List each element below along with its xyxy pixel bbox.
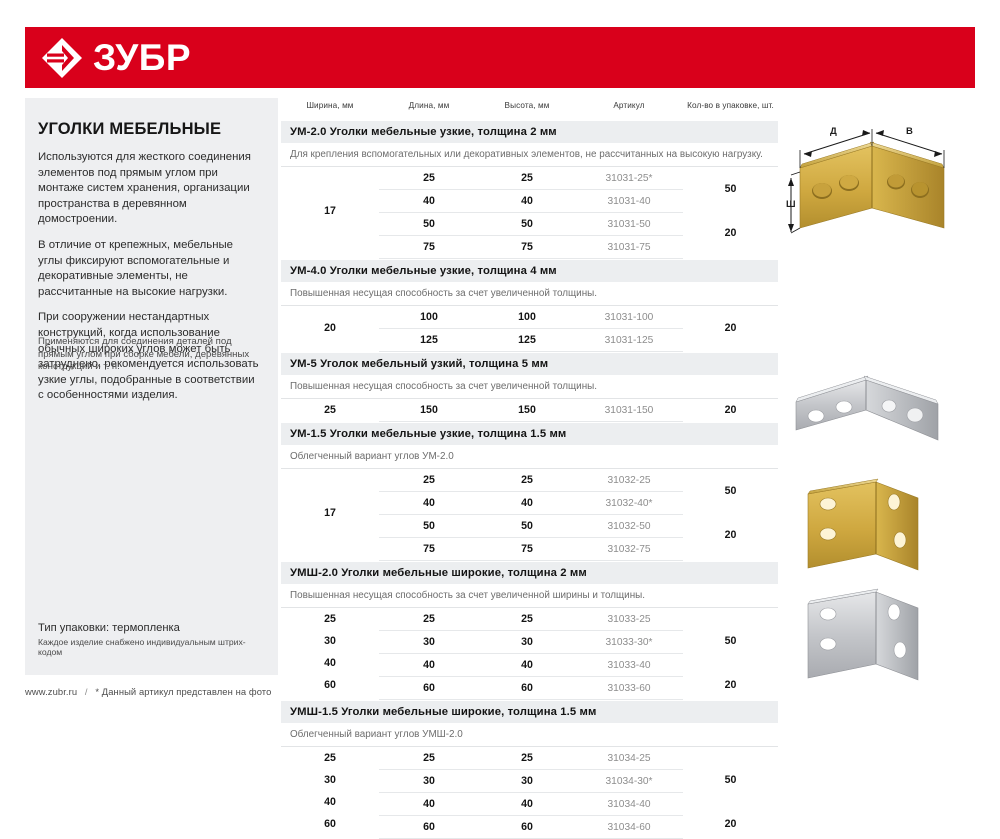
section-rows: 17252531032-25404031032-40*505031032-507…	[281, 469, 778, 561]
table-header-row: Ширина, мм Длина, мм Высота, мм Артикул …	[281, 98, 778, 120]
quantity-value: 20	[683, 813, 778, 835]
length-value: 30	[379, 636, 479, 648]
article-number: 31031-40	[575, 196, 683, 207]
table-row: 252531031-25*	[379, 167, 683, 190]
table-row: 252531034-25	[379, 747, 683, 770]
width-value: 30	[281, 769, 379, 791]
width-value: 25	[281, 608, 379, 630]
dimension-label-length: Д	[830, 126, 837, 137]
width-column: 20	[281, 306, 379, 352]
info-sidebar: УГОЛКИ МЕБЕЛЬНЫЕ Используются для жестко…	[25, 98, 278, 675]
section-description: Повышенная несущая способность за счет у…	[281, 584, 778, 608]
length-value: 75	[379, 543, 479, 555]
article-number: 31032-40*	[575, 498, 683, 509]
section-rows: 17252531031-25*404031031-40505031031-507…	[281, 167, 778, 259]
brand-header-band: ЗУБР	[25, 27, 975, 88]
column-header-length: Длина, мм	[379, 98, 479, 110]
datasheet-page: ЗУБР УГОЛКИ МЕБЕЛЬНЫЕ Используются для ж…	[0, 0, 1000, 707]
height-value: 40	[479, 798, 575, 810]
table-row: 404031034-40	[379, 793, 683, 816]
article-number: 31031-125	[575, 335, 683, 346]
data-rows: 252531031-25*404031031-40505031031-50757…	[379, 167, 683, 259]
table-row: 505031031-50	[379, 213, 683, 236]
quantity-value: 20	[683, 399, 778, 421]
width-value: 25	[281, 747, 379, 769]
article-number: 31033-30*	[575, 637, 683, 648]
sidebar-description: Используются для жесткого соединения эле…	[38, 150, 260, 414]
length-value: 125	[379, 334, 479, 346]
quantity-column: 5020	[683, 469, 778, 561]
column-header-width: Ширина, мм	[281, 98, 379, 110]
length-value: 60	[379, 821, 479, 833]
article-number: 31031-150	[575, 405, 683, 416]
column-header-article: Артикул	[575, 98, 683, 110]
quantity-value: 20	[683, 306, 778, 350]
width-column: 25	[281, 399, 379, 422]
table-row: 404031032-40*	[379, 492, 683, 515]
sidebar-paragraph: Используются для жесткого соединения эле…	[38, 150, 260, 228]
quantity-column: 20	[683, 306, 778, 352]
section-rows: 25304060252531033-25303031033-30*4040310…	[281, 608, 778, 700]
table-row: 10010031031-100	[379, 306, 683, 329]
data-rows: 15015031031-150	[379, 399, 683, 422]
table-row: 404031031-40	[379, 190, 683, 213]
height-value: 25	[479, 172, 575, 184]
zubr-diamond-logo-icon	[40, 36, 84, 80]
sidebar-paragraph: В отличие от крепежных, мебельные углы ф…	[38, 238, 260, 300]
column-header-quantity: Кол-во в упаковке, шт.	[683, 98, 778, 110]
width-value: 25	[281, 399, 379, 421]
table-row: 303031034-30*	[379, 770, 683, 793]
width-value: 40	[281, 652, 379, 674]
height-value: 75	[479, 241, 575, 253]
height-value: 125	[479, 334, 575, 346]
width-column: 25304060	[281, 608, 379, 700]
dimension-diagram-brass-angle: Д В Ш	[786, 120, 982, 260]
width-value: 17	[281, 469, 379, 557]
section-description: Повышенная несущая способность за счет у…	[281, 375, 778, 399]
section-header: УМ-2.0 Уголки мебельные узкие, толщина 2…	[281, 120, 778, 143]
length-value: 25	[379, 172, 479, 184]
sidebar-usage-note: Применяются для соединения деталей под п…	[38, 336, 266, 374]
footer-separator: /	[85, 686, 88, 697]
article-number: 31031-100	[575, 312, 683, 323]
section-header: УМШ-2.0 Уголки мебельные широкие, толщин…	[281, 561, 778, 584]
quantity-value: 50	[683, 469, 778, 513]
quantity-column: 20	[683, 399, 778, 422]
length-value: 100	[379, 311, 479, 323]
photo-wide-angle-brass	[786, 476, 982, 586]
table-row: 303031033-30*	[379, 631, 683, 654]
quantity-column: 5020	[683, 747, 778, 839]
length-value: 40	[379, 798, 479, 810]
length-value: 50	[379, 520, 479, 532]
section-header: УМШ-1.5 Уголки мебельные широкие, толщин…	[281, 700, 778, 723]
article-number: 31032-25	[575, 475, 683, 486]
length-value: 25	[379, 474, 479, 486]
length-value: 60	[379, 682, 479, 694]
quantity-column: 5020	[683, 608, 778, 700]
table-row: 757531031-75	[379, 236, 683, 259]
width-column: 17	[281, 167, 379, 259]
height-value: 25	[479, 613, 575, 625]
section-header: УМ-1.5 Уголки мебельные узкие, толщина 1…	[281, 422, 778, 445]
table-row: 252531032-25	[379, 469, 683, 492]
section-description: Облегченный вариант углов УМШ-2.0	[281, 723, 778, 747]
length-value: 50	[379, 218, 479, 230]
article-number: 31031-75	[575, 242, 683, 253]
photo-wide-angle-zinc	[786, 586, 982, 696]
length-value: 25	[379, 613, 479, 625]
page-footer: www.zubr.ru / * Данный артикул представл…	[25, 686, 271, 697]
table-row: 404031033-40	[379, 654, 683, 677]
article-number: 31031-25*	[575, 173, 683, 184]
packaging-barcode-note: Каждое изделие снабжено индивидуальным ш…	[38, 637, 268, 657]
table-sections: УМ-2.0 Уголки мебельные узкие, толщина 2…	[281, 120, 778, 839]
length-value: 40	[379, 497, 479, 509]
column-header-height: Высота, мм	[479, 98, 575, 110]
height-value: 25	[479, 752, 575, 764]
table-row: 252531033-25	[379, 608, 683, 631]
width-value: 20	[281, 306, 379, 350]
height-value: 60	[479, 682, 575, 694]
data-rows: 252531033-25303031033-30*404031033-40606…	[379, 608, 683, 700]
width-column: 25304060	[281, 747, 379, 839]
section-header: УМ-4.0 Уголки мебельные узкие, толщина 4…	[281, 259, 778, 282]
data-rows: 252531032-25404031032-40*505031032-50757…	[379, 469, 683, 561]
packaging-type: Тип упаковки: термопленка	[38, 622, 268, 634]
height-value: 75	[479, 543, 575, 555]
photo-narrow-angle-zinc	[786, 366, 982, 476]
section-description: Повышенная несущая способность за счет у…	[281, 282, 778, 306]
height-value: 60	[479, 821, 575, 833]
data-rows: 10010031031-10012512531031-125	[379, 306, 683, 352]
specifications-table: Ширина, мм Длина, мм Высота, мм Артикул …	[281, 98, 778, 839]
article-number: 31032-75	[575, 544, 683, 555]
table-row: 757531032-75	[379, 538, 683, 561]
quantity-value: 20	[683, 211, 778, 255]
section-description: Для крепления вспомогательных или декора…	[281, 143, 778, 167]
height-value: 40	[479, 497, 575, 509]
length-value: 25	[379, 752, 479, 764]
height-value: 40	[479, 195, 575, 207]
height-value: 50	[479, 218, 575, 230]
article-number: 31031-50	[575, 219, 683, 230]
height-value: 40	[479, 659, 575, 671]
table-row: 505031032-50	[379, 515, 683, 538]
article-number: 31032-50	[575, 521, 683, 532]
length-value: 40	[379, 195, 479, 207]
quantity-value: 50	[683, 747, 778, 813]
width-value: 60	[281, 813, 379, 835]
product-images-column: Д В Ш	[786, 120, 986, 696]
dimension-label-width: Ш	[786, 199, 796, 210]
data-rows: 252531034-25303031034-30*404031034-40606…	[379, 747, 683, 839]
section-header: УМ-5 Уголок мебельный узкий, толщина 5 м…	[281, 352, 778, 375]
dimension-label-height: В	[906, 126, 913, 137]
height-value: 30	[479, 636, 575, 648]
table-row: 606031033-60	[379, 677, 683, 700]
article-number: 31033-25	[575, 614, 683, 625]
length-value: 40	[379, 659, 479, 671]
article-number: 31033-60	[575, 683, 683, 694]
table-row: 12512531031-125	[379, 329, 683, 352]
quantity-column: 5020	[683, 167, 778, 259]
section-description: Облегченный вариант углов УМ-2.0	[281, 445, 778, 469]
width-column: 17	[281, 469, 379, 561]
article-number: 31034-40	[575, 799, 683, 810]
website-url[interactable]: www.zubr.ru	[25, 686, 77, 697]
quantity-value: 50	[683, 608, 778, 674]
width-value: 40	[281, 791, 379, 813]
height-value: 150	[479, 404, 575, 416]
article-number: 31033-40	[575, 660, 683, 671]
footnote-asterisk-text: * Данный артикул представлен на фото	[95, 686, 271, 697]
page-title: УГОЛКИ МЕБЕЛЬНЫЕ	[38, 120, 268, 139]
table-row: 606031034-60	[379, 816, 683, 839]
section-rows: 2010010031031-10012512531031-12520	[281, 306, 778, 352]
width-value: 17	[281, 167, 379, 255]
length-value: 30	[379, 775, 479, 787]
quantity-value: 20	[683, 674, 778, 696]
quantity-value: 50	[683, 167, 778, 211]
brand-name: ЗУБР	[93, 36, 191, 80]
article-number: 31034-60	[575, 822, 683, 833]
article-number: 31034-30*	[575, 776, 683, 787]
brand-logo: ЗУБР	[40, 35, 191, 80]
article-number: 31034-25	[575, 753, 683, 764]
height-value: 30	[479, 775, 575, 787]
width-value: 30	[281, 630, 379, 652]
width-value: 60	[281, 674, 379, 696]
length-value: 150	[379, 404, 479, 416]
height-value: 100	[479, 311, 575, 323]
height-value: 50	[479, 520, 575, 532]
section-rows: 25304060252531034-25303031034-30*4040310…	[281, 747, 778, 839]
height-value: 25	[479, 474, 575, 486]
section-rows: 2515015031031-15020	[281, 399, 778, 422]
table-row: 15015031031-150	[379, 399, 683, 422]
length-value: 75	[379, 241, 479, 253]
quantity-value: 20	[683, 513, 778, 557]
packaging-info: Тип упаковки: термопленка Каждое изделие…	[38, 622, 268, 657]
